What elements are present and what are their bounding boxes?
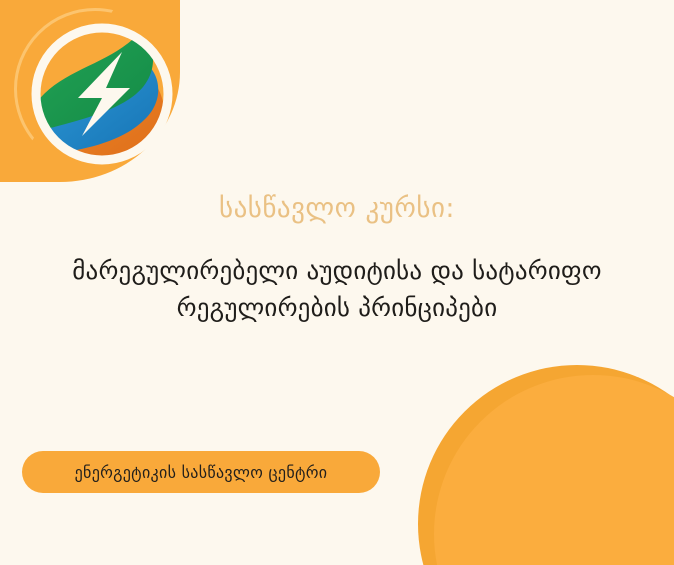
course-title-slide: სასწავლო კურსი: მარეგულირებელი აუდიტისა …	[0, 0, 674, 565]
page-title-line-1: მარეგულირებელი აუდიტისა და სატარიფო	[36, 252, 638, 289]
page-title-line-2: რეგულირების პრინციპები	[36, 289, 638, 326]
organization-badge-label: ენერგეტიკის სასწავლო ცენტრი	[75, 463, 328, 482]
organization-badge[interactable]: ენერგეტიკის სასწავლო ცენტრი	[22, 451, 380, 493]
eyebrow-label: სასწავლო კურსი:	[0, 193, 674, 224]
page-title: მარეგულირებელი აუდიტისა და სატარიფო რეგუ…	[0, 252, 674, 326]
